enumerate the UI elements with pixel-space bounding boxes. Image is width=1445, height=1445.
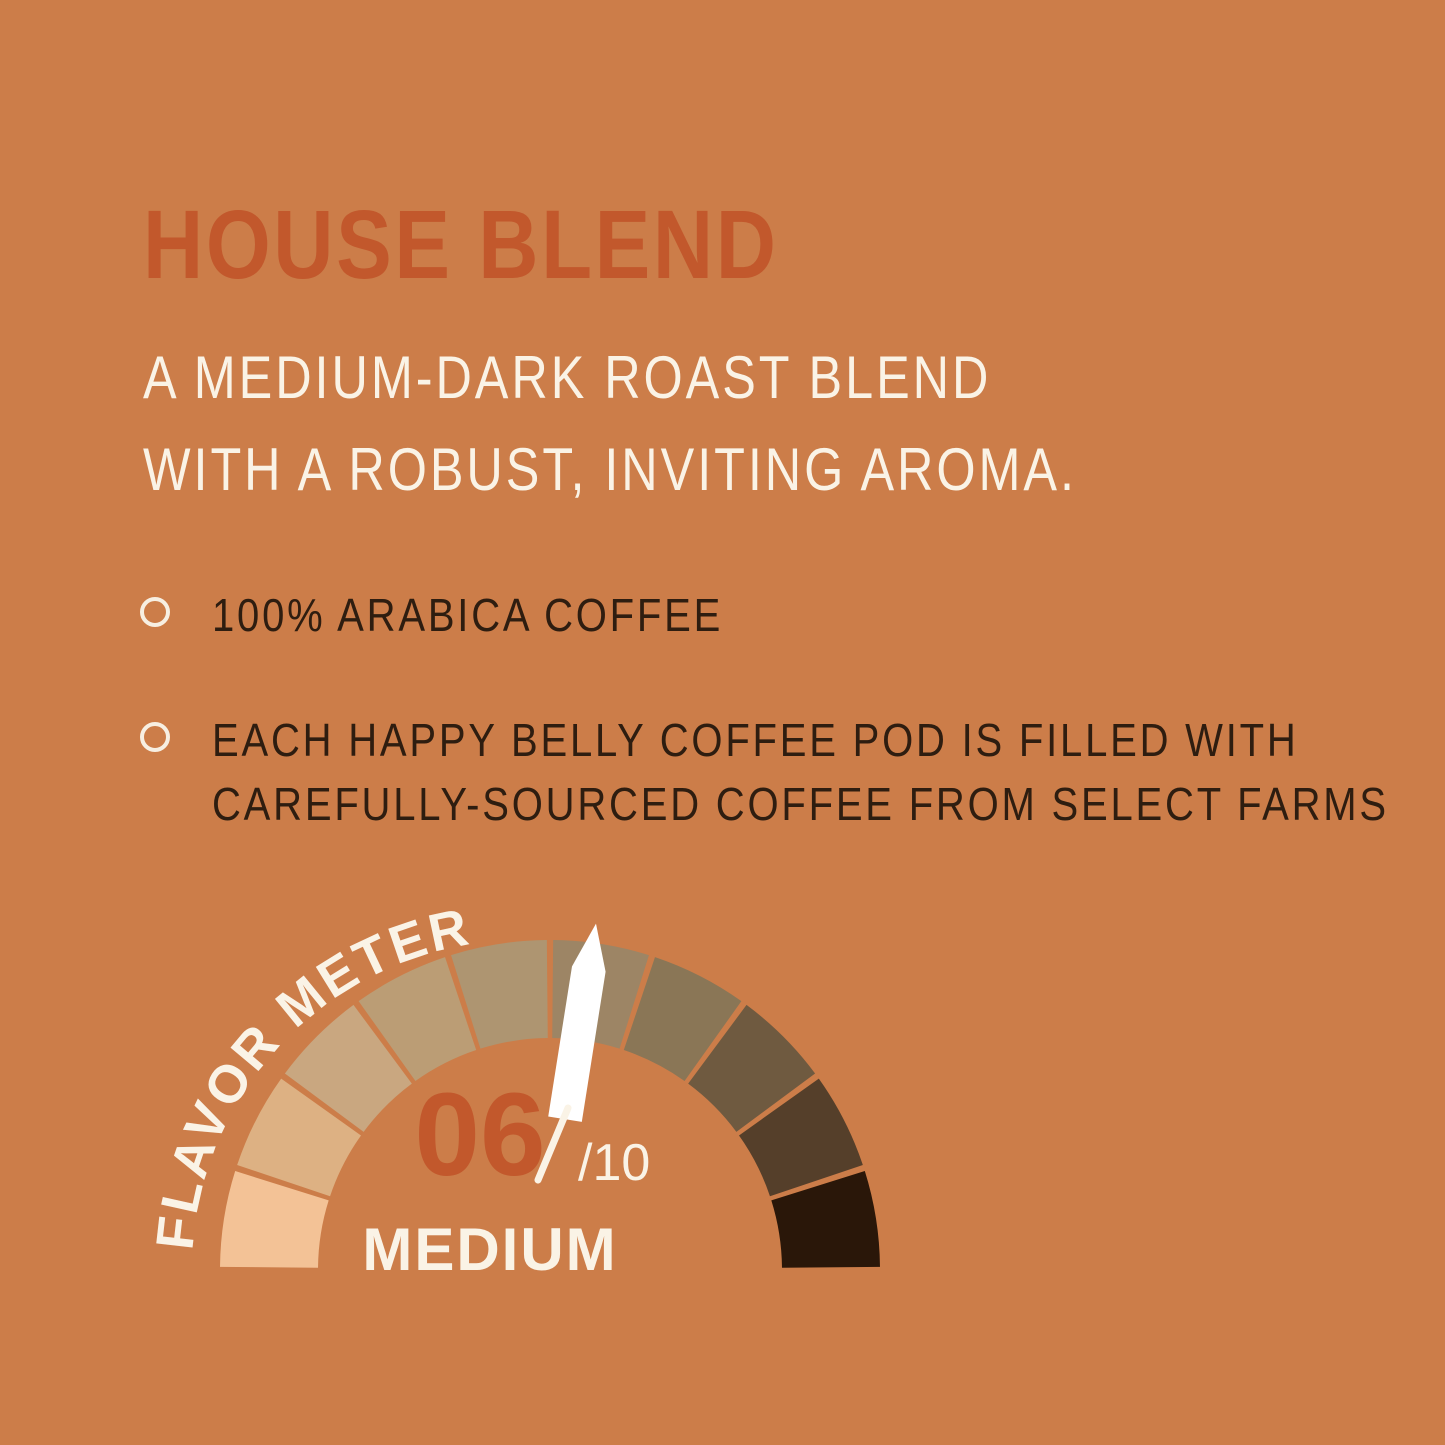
bullet-text: 100% ARABICA COFFEE [212,583,723,647]
bullet-text: EACH HAPPY BELLY COFFEE POD IS FILLED WI… [212,708,1389,836]
product-subtitle: A MEDIUM-DARK ROAST BLEND WITH A ROBUST,… [143,332,1077,516]
subtitle-line-1: A MEDIUM-DARK ROAST BLEND [143,332,1077,424]
bullet-2-line-2: CAREFULLY-SOURCED COFFEE FROM SELECT FAR… [212,772,1389,836]
bullet-circle-icon [140,597,170,627]
list-item: 100% ARABICA COFFEE [140,583,799,647]
gauge-denominator: /10 [578,1134,650,1192]
subtitle-line-2: WITH A ROBUST, INVITING AROMA. [143,424,1077,516]
bullet-2-line-1: EACH HAPPY BELLY COFFEE POD IS FILLED WI… [212,708,1389,772]
bullet-1-line-1: 100% ARABICA COFFEE [212,583,723,647]
flavor-meter: FLAVOR METER 06 /10 MEDIUM [150,880,980,1300]
gauge-value: 06 [414,1069,545,1201]
gauge-caption: MEDIUM [362,1216,617,1283]
flavor-meter-svg: FLAVOR METER 06 /10 MEDIUM [150,880,980,1300]
page-title: HOUSE BLEND [143,196,779,293]
product-card: HOUSE BLEND A MEDIUM-DARK ROAST BLEND WI… [0,0,1445,1445]
bullet-circle-icon [140,722,170,752]
list-item: EACH HAPPY BELLY COFFEE POD IS FILLED WI… [140,708,1445,836]
